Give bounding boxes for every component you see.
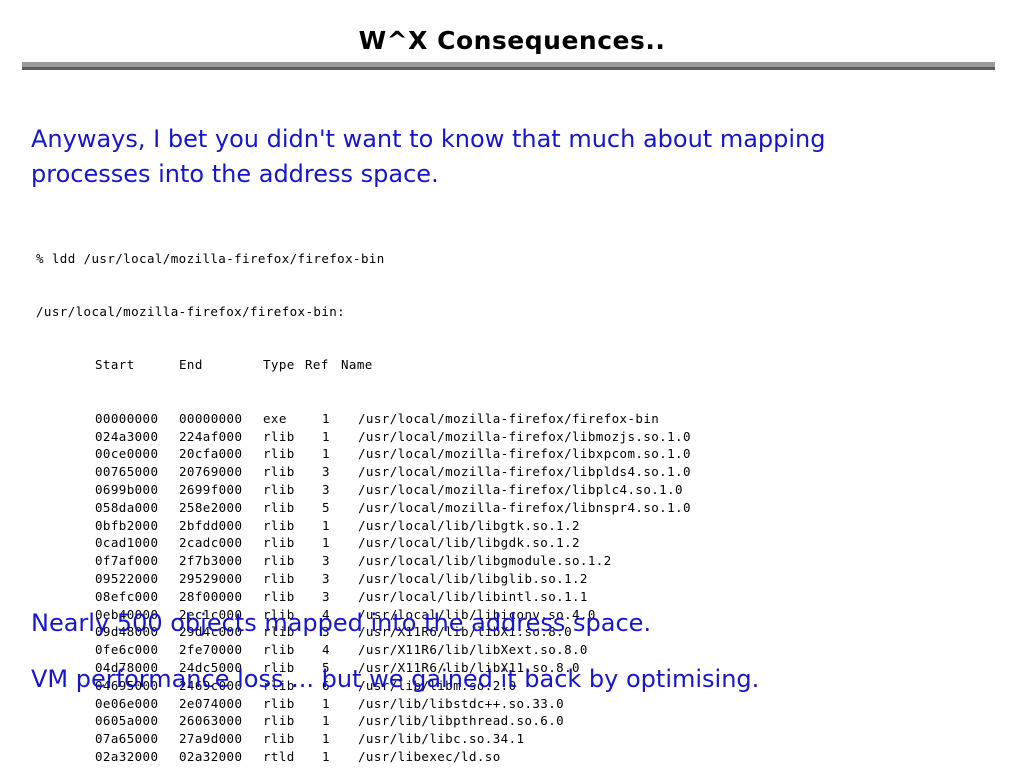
cell-type: exe xyxy=(263,410,305,428)
cell-type: rlib xyxy=(263,552,305,570)
table-row: 0cad10002cadc000rlib1/usr/local/lib/libg… xyxy=(36,534,691,552)
cell-ref: 1 xyxy=(322,445,358,463)
table-row: 0605a00026063000rlib1/usr/lib/libpthread… xyxy=(36,712,691,730)
cell-start: 02a32000 xyxy=(95,748,179,766)
column-header-end: End xyxy=(179,356,263,374)
cell-end: 02a32000 xyxy=(179,748,263,766)
cell-end: 2cadc000 xyxy=(179,534,263,552)
table-row: 0fe6c0002fe70000rlib4/usr/X11R6/lib/libX… xyxy=(36,641,691,659)
table-row: 0076500020769000rlib3/usr/local/mozilla-… xyxy=(36,463,691,481)
cell-type: rlib xyxy=(263,481,305,499)
cell-ref: 1 xyxy=(322,730,358,748)
cell-end: 26063000 xyxy=(179,712,263,730)
cell-start: 00000000 xyxy=(95,410,179,428)
table-row: 02a3200002a32000rtld1/usr/libexec/ld.so xyxy=(36,748,691,766)
cell-type: rlib xyxy=(263,570,305,588)
cell-type: rtld xyxy=(263,748,305,766)
cell-end: 2699f000 xyxy=(179,481,263,499)
table-row: 07a6500027a9d000rlib1/usr/lib/libc.so.34… xyxy=(36,730,691,748)
cell-start: 0cad1000 xyxy=(95,534,179,552)
cell-end: 2e074000 xyxy=(179,695,263,713)
cell-name: /usr/local/lib/libgtk.so.1.2 xyxy=(358,517,580,535)
cell-name: /usr/local/mozilla-firefox/libmozjs.so.1… xyxy=(358,428,691,446)
cell-name: /usr/local/lib/libintl.so.1.1 xyxy=(358,588,588,606)
cell-type: rlib xyxy=(263,499,305,517)
ldd-row-container: 0000000000000000exe1/usr/local/mozilla-f… xyxy=(36,410,691,766)
intro-paragraph: Anyways, I bet you didn't want to know t… xyxy=(31,122,931,192)
cell-end: 00000000 xyxy=(179,410,263,428)
cell-end: 224af000 xyxy=(179,428,263,446)
cell-type: rlib xyxy=(263,730,305,748)
cell-name: /usr/local/lib/libgdk.so.1.2 xyxy=(358,534,580,552)
cell-start: 0fe6c000 xyxy=(95,641,179,659)
cell-name: /usr/lib/libstdc++.so.33.0 xyxy=(358,695,564,713)
cell-ref: 3 xyxy=(322,481,358,499)
cell-type: rlib xyxy=(263,712,305,730)
cell-ref: 1 xyxy=(322,534,358,552)
cell-name: /usr/X11R6/lib/libXext.so.8.0 xyxy=(358,641,588,659)
cell-end: 20769000 xyxy=(179,463,263,481)
ldd-output-block: % ldd /usr/local/mozilla-firefox/firefox… xyxy=(36,214,691,784)
cell-end: 2f7b3000 xyxy=(179,552,263,570)
cell-ref: 1 xyxy=(322,410,358,428)
summary-line-vm-performance: VM performance loss ... but we gained it… xyxy=(31,662,981,697)
cell-end: 29529000 xyxy=(179,570,263,588)
cell-start: 024a3000 xyxy=(95,428,179,446)
cell-end: 27a9d000 xyxy=(179,730,263,748)
cell-start: 08efc000 xyxy=(95,588,179,606)
cell-ref: 1 xyxy=(322,517,358,535)
cell-name: /usr/local/lib/libgmodule.so.1.2 xyxy=(358,552,612,570)
column-header-name: Name xyxy=(341,356,373,374)
cell-ref: 5 xyxy=(322,499,358,517)
cell-name: /usr/local/mozilla-firefox/libxpcom.so.1… xyxy=(358,445,691,463)
column-header-ref: Ref xyxy=(305,356,341,374)
cell-end: 20cfa000 xyxy=(179,445,263,463)
table-row: 00ce000020cfa000rlib1/usr/local/mozilla-… xyxy=(36,445,691,463)
cell-start: 0bfb2000 xyxy=(95,517,179,535)
title-divider-bottom xyxy=(22,67,995,70)
cell-type: rlib xyxy=(263,428,305,446)
cell-start: 07a65000 xyxy=(95,730,179,748)
cell-ref: 4 xyxy=(322,641,358,659)
cell-type: rlib xyxy=(263,641,305,659)
cell-type: rlib xyxy=(263,534,305,552)
cell-start: 0699b000 xyxy=(95,481,179,499)
table-row: 0699b0002699f000rlib3/usr/local/mozilla-… xyxy=(36,481,691,499)
cell-name: /usr/local/lib/libglib.so.1.2 xyxy=(358,570,588,588)
table-row: 058da000258e2000rlib5/usr/local/mozilla-… xyxy=(36,499,691,517)
table-row: 0952200029529000rlib3/usr/local/lib/libg… xyxy=(36,570,691,588)
summary-line-objects-mapped: Nearly 500 objects mapped into the addre… xyxy=(31,606,931,641)
terminal-header-row: StartEndTypeRefName xyxy=(36,356,691,374)
cell-ref: 3 xyxy=(322,552,358,570)
cell-start: 0e06e000 xyxy=(95,695,179,713)
cell-type: rlib xyxy=(263,463,305,481)
cell-type: rlib xyxy=(263,695,305,713)
cell-start: 00ce0000 xyxy=(95,445,179,463)
terminal-target-line: /usr/local/mozilla-firefox/firefox-bin: xyxy=(36,303,691,321)
cell-start: 00765000 xyxy=(95,463,179,481)
table-row: 0e06e0002e074000rlib1/usr/lib/libstdc++.… xyxy=(36,695,691,713)
cell-name: /usr/local/mozilla-firefox/firefox-bin xyxy=(358,410,659,428)
terminal-command-line: % ldd /usr/local/mozilla-firefox/firefox… xyxy=(36,250,691,268)
cell-end: 2bfdd000 xyxy=(179,517,263,535)
column-header-type: Type xyxy=(263,356,305,374)
cell-ref: 1 xyxy=(322,695,358,713)
cell-ref: 1 xyxy=(322,748,358,766)
cell-ref: 3 xyxy=(322,463,358,481)
cell-name: /usr/libexec/ld.so xyxy=(358,748,501,766)
cell-end: 258e2000 xyxy=(179,499,263,517)
cell-start: 0605a000 xyxy=(95,712,179,730)
cell-end: 2fe70000 xyxy=(179,641,263,659)
table-row: 08efc00028f00000rlib3/usr/local/lib/libi… xyxy=(36,588,691,606)
cell-start: 0f7af000 xyxy=(95,552,179,570)
table-row: 0bfb20002bfdd000rlib1/usr/local/lib/libg… xyxy=(36,517,691,535)
column-header-start: Start xyxy=(95,356,179,374)
table-row: 0f7af0002f7b3000rlib3/usr/local/lib/libg… xyxy=(36,552,691,570)
cell-type: rlib xyxy=(263,445,305,463)
cell-name: /usr/local/mozilla-firefox/libplds4.so.1… xyxy=(358,463,691,481)
table-row: 0000000000000000exe1/usr/local/mozilla-f… xyxy=(36,410,691,428)
cell-name: /usr/local/mozilla-firefox/libplc4.so.1.… xyxy=(358,481,683,499)
cell-name: /usr/lib/libpthread.so.6.0 xyxy=(358,712,564,730)
cell-ref: 1 xyxy=(322,712,358,730)
cell-start: 058da000 xyxy=(95,499,179,517)
cell-name: /usr/local/mozilla-firefox/libnspr4.so.1… xyxy=(358,499,691,517)
title-divider xyxy=(22,62,995,70)
cell-end: 28f00000 xyxy=(179,588,263,606)
table-row: 024a3000224af000rlib1/usr/local/mozilla-… xyxy=(36,428,691,446)
cell-ref: 3 xyxy=(322,570,358,588)
cell-name: /usr/lib/libc.so.34.1 xyxy=(358,730,524,748)
cell-ref: 3 xyxy=(322,588,358,606)
cell-ref: 1 xyxy=(322,428,358,446)
cell-type: rlib xyxy=(263,517,305,535)
page-title: W^X Consequences.. xyxy=(0,26,1024,55)
cell-start: 09522000 xyxy=(95,570,179,588)
cell-type: rlib xyxy=(263,588,305,606)
